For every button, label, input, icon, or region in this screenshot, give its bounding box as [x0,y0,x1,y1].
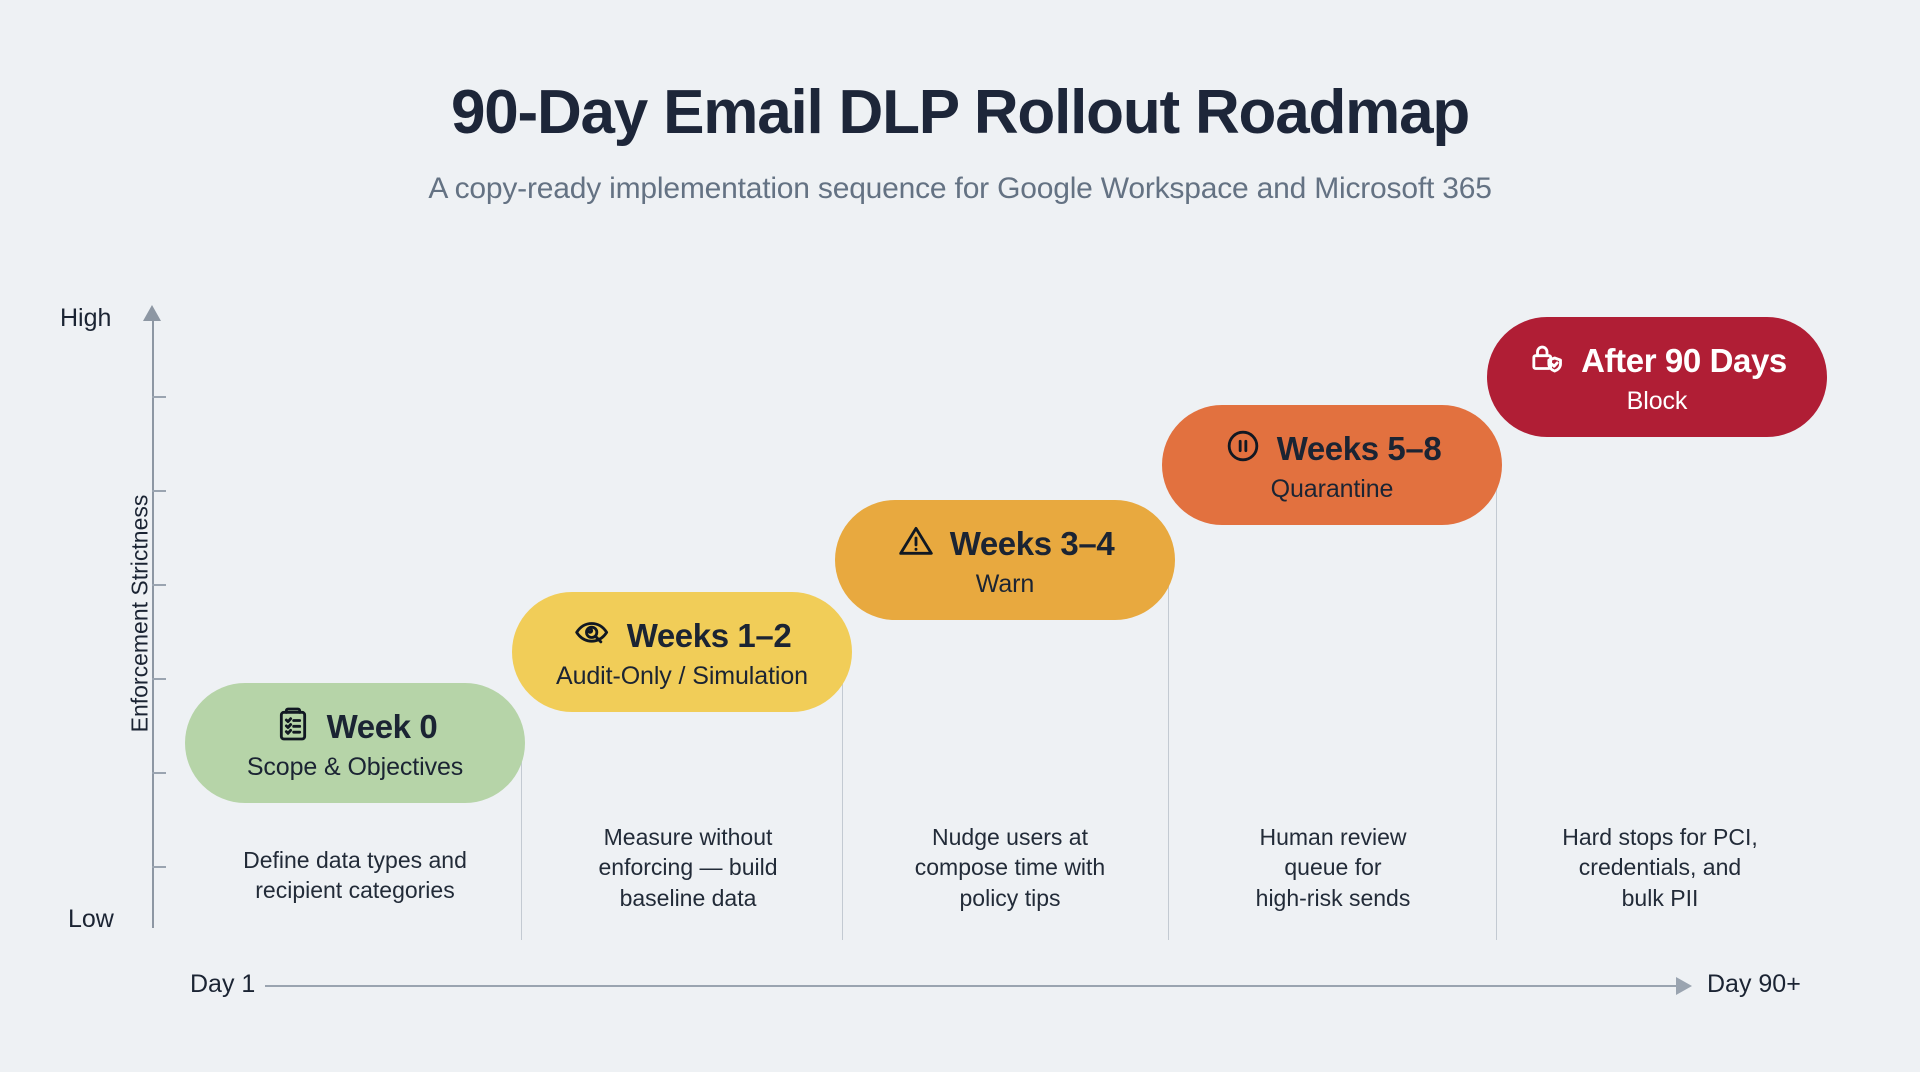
x-axis-label-start: Day 1 [190,970,255,999]
eye-search-icon [573,613,613,658]
step-pill-weeks-3-4[interactable]: Weeks 3–4 Warn [835,500,1175,620]
step-label: Weeks 5–8 [1277,430,1442,468]
x-axis-label-end: Day 90+ [1707,970,1801,999]
column-separator [1168,555,1169,940]
pause-circle-icon [1223,426,1263,471]
step-label: Weeks 3–4 [950,525,1115,563]
y-axis-tick [152,490,166,492]
step-sublabel: Quarantine [1271,475,1394,504]
clipboard-checklist-icon [273,704,313,749]
y-axis-label-high: High [60,304,111,333]
x-axis-line [265,985,1680,987]
step-label: Weeks 1–2 [627,617,792,655]
step-caption: Nudge users at compose time with policy … [855,822,1165,913]
step-pill-week-0[interactable]: Week 0 Scope & Objectives [185,683,525,803]
step-pill-weeks-5-8[interactable]: Weeks 5–8 Quarantine [1162,405,1502,525]
step-sublabel: Scope & Objectives [247,753,463,782]
y-axis-title: Enforcement Strictness [127,434,154,794]
column-separator [1496,466,1497,940]
step-caption: Measure without enforcing — build baseli… [533,822,843,913]
y-axis-tick [152,396,166,398]
step-pill-weeks-1-2[interactable]: Weeks 1–2 Audit-Only / Simulation [512,592,852,712]
step-label: Week 0 [327,708,438,746]
step-sublabel: Audit-Only / Simulation [556,662,808,691]
y-axis-tick [152,678,166,680]
y-axis-tick [152,772,166,774]
step-caption: Hard stops for PCI, credentials, and bul… [1505,822,1815,913]
step-caption: Define data types and recipient categori… [200,845,510,906]
warning-triangle-icon [896,521,936,566]
step-pill-after-90-days[interactable]: After 90 Days Block [1487,317,1827,437]
y-axis-tick [152,584,166,586]
lock-shield-check-icon [1527,338,1567,383]
roadmap-chart: High Low Enforcement Strictness Week 0 [0,0,1920,1072]
step-sublabel: Block [1627,387,1688,416]
step-sublabel: Warn [976,570,1034,599]
step-caption: Human review queue for high-risk sends [1178,822,1488,913]
y-axis-tick [152,866,166,868]
x-axis-arrow-icon [1676,977,1692,995]
step-label: After 90 Days [1581,342,1787,380]
column-separator [521,740,522,940]
y-axis-label-low: Low [68,905,114,934]
